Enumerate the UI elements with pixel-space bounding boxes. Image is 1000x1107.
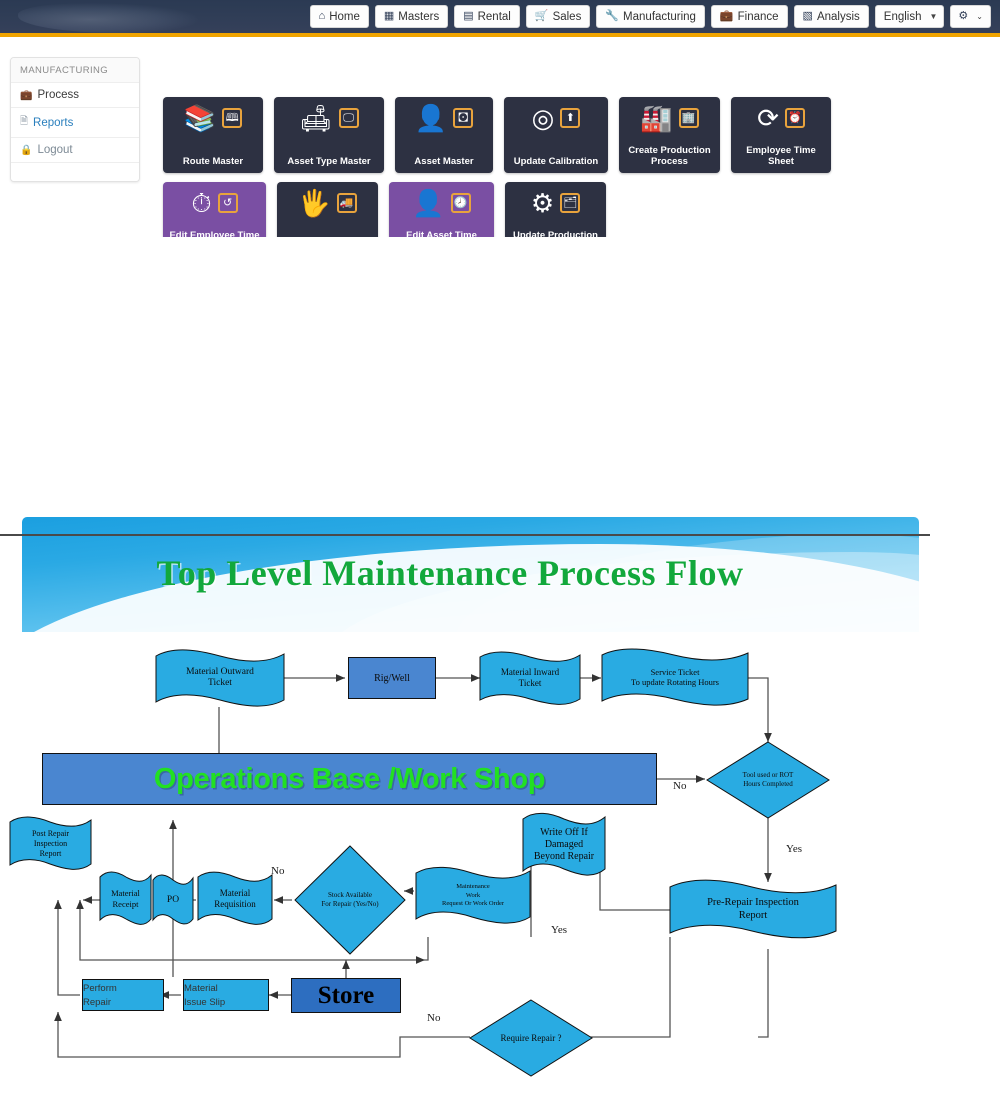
24h-clock-icon: ⏱ <box>191 190 211 216</box>
clock-reset-badge-icon: ↺ <box>218 193 238 213</box>
home-icon: ⌂ <box>319 11 326 22</box>
tile-update-calibration[interactable]: ◎ ⬆ Update Calibration <box>504 97 608 173</box>
id-card-badge-icon: 🖸 <box>453 108 473 128</box>
top-navigation-bar: ⌂ Home ▦ Masters ▤ Rental 🛒 Sales 🔧 Manu… <box>0 0 1000 37</box>
nav-item-masters[interactable]: ▦ Masters <box>375 5 448 28</box>
sidebar-item-reports[interactable]: 🗎 Reports <box>11 108 139 138</box>
books-icon: 📚 <box>184 105 216 131</box>
person-clock-icon: 👤 <box>412 190 444 216</box>
cart-icon: 🛒 <box>535 11 549 22</box>
factory-badge-icon: 🏢 <box>679 108 699 128</box>
tile-asset-master[interactable]: 👤 🖸 Asset Master <box>395 97 493 173</box>
workflow-icon: ⚙ <box>531 190 554 216</box>
clock-badge-icon: 🕗 <box>451 193 471 213</box>
tile-label: Route Master <box>163 156 263 167</box>
language-selector-label: English <box>884 11 922 23</box>
tile-icons: 🏭 🏢 <box>619 105 720 131</box>
tile-route-master[interactable]: 📚 🕮 Route Master <box>163 97 263 173</box>
node-pre-repair-inspection-report[interactable]: Pre-Repair Inspection Report <box>668 878 838 940</box>
tile-label: Asset Master <box>395 156 493 167</box>
flowchart-title: Top Level Maintenance Process Flow <box>0 552 900 594</box>
upload-badge-icon: ⬆ <box>560 108 580 128</box>
sidebar-item-reports-label: Reports <box>33 117 73 129</box>
sidebar-footer-spacer <box>11 163 139 181</box>
node-stock-available-decision[interactable]: Stock Available For Repair (Yes/No) <box>294 845 406 955</box>
hand-clock-icon: 🖐 <box>298 190 330 216</box>
chevron-down-icon: ▼ <box>930 12 938 21</box>
wrench-icon: 🔧 <box>605 11 619 22</box>
armchair-icon: 🛋 <box>299 105 332 131</box>
sidebar-item-logout[interactable]: 🔒 Logout <box>11 138 139 163</box>
grid-list-icon: ▦ <box>384 11 394 22</box>
tile-create-production-process[interactable]: 🏭 🏢 Create Production Process <box>619 97 720 173</box>
grid-icon: ▧ <box>803 11 813 22</box>
nav-button-group: ⌂ Home ▦ Masters ▤ Rental 🛒 Sales 🔧 Manu… <box>310 5 991 28</box>
node-material-requisition[interactable]: Material Requisition <box>196 870 274 928</box>
nav-item-finance-label: Finance <box>738 11 779 23</box>
content-area: MANUFACTURING 💼 Process 🗎 Reports 🔒 Logo… <box>0 37 1000 237</box>
lock-icon: 🔒 <box>20 145 32 156</box>
nav-item-manufacturing-label: Manufacturing <box>623 11 696 23</box>
settings-menu-button[interactable]: ⚙ ⌄ <box>950 5 991 28</box>
tile-icons: 👤 🕗 <box>389 190 494 216</box>
sidebar-item-process-label: Process <box>37 89 79 101</box>
nav-item-home[interactable]: ⌂ Home <box>310 5 369 28</box>
monitor-badge-icon: 🖵 <box>339 108 359 128</box>
table-icon: ▤ <box>463 11 473 22</box>
settings-caret-icon: ⌄ <box>976 12 983 21</box>
node-material-issue-slip[interactable]: Material Issue Slip <box>183 979 269 1011</box>
alarm-badge-icon: ⏰ <box>785 108 805 128</box>
edge-label-tool-used-yes: Yes <box>786 843 802 855</box>
node-write-off[interactable]: Write Off If Damaged Beyond Repair <box>521 811 607 879</box>
manufacturing-sidebar: MANUFACTURING 💼 Process 🗎 Reports 🔒 Logo… <box>10 57 140 182</box>
nav-item-sales-label: Sales <box>553 11 582 23</box>
node-label: Store <box>318 982 374 1010</box>
tile-row-1: 📚 🕮 Route Master 🛋 🖵 Asset Type Master 👤… <box>163 97 963 173</box>
24h-cycle-icon: ⟳ <box>757 105 779 131</box>
node-require-repair-decision[interactable]: Require Repair ? <box>469 999 593 1077</box>
tile-label: Asset Type Master <box>274 156 384 167</box>
gear-icon: ⚙ <box>958 11 968 22</box>
book-badge-icon: 🕮 <box>222 108 242 128</box>
tile-icons: 📚 🕮 <box>163 105 263 131</box>
node-tool-used-decision[interactable]: Tool used or ROT Hours Completed <box>706 741 830 819</box>
edge-label-write-off-yes: Yes <box>551 924 567 936</box>
tile-label: Update Calibration <box>504 156 608 167</box>
document-icon: 🗎 <box>20 114 28 131</box>
tile-label: Create Production Process <box>619 145 720 167</box>
person-suit-icon: 👤 <box>415 105 447 131</box>
node-material-inward-ticket[interactable]: Material Inward Ticket <box>478 650 582 706</box>
tile-icons: ◎ ⬆ <box>504 105 608 131</box>
truck-badge-icon: 🚚 <box>337 193 357 213</box>
nav-item-rental-label: Rental <box>478 11 511 23</box>
node-maintenance-work-request[interactable]: Maintenance Work Request Or Work Order <box>414 865 532 927</box>
node-rig-well[interactable]: Rig/Well <box>348 657 436 699</box>
node-perform-repair[interactable]: Perform Repair <box>82 979 164 1011</box>
node-post-repair-inspection-report[interactable]: Post Repair Inspection Report <box>8 815 93 873</box>
sidebar-item-logout-label: Logout <box>37 144 72 156</box>
sidebar-item-process[interactable]: 💼 Process <box>11 83 139 108</box>
tile-icons: 👤 🖸 <box>395 105 493 131</box>
node-store[interactable]: Store <box>291 978 401 1013</box>
tile-asset-type-master[interactable]: 🛋 🖵 Asset Type Master <box>274 97 384 173</box>
node-material-outward-ticket[interactable]: Material Outward Ticket <box>154 648 286 708</box>
node-label: Perform Repair <box>83 983 117 1008</box>
company-logo <box>18 3 198 33</box>
node-label: Rig/Well <box>374 673 410 684</box>
nav-item-analysis[interactable]: ▧ Analysis <box>794 5 869 28</box>
edge-label-tool-used-no: No <box>673 780 686 792</box>
briefcase-icon: 💼 <box>720 11 734 22</box>
language-selector[interactable]: English ▼ <box>875 5 945 28</box>
briefcase-icon: 💼 <box>20 90 32 101</box>
tile-icons: ⟳ ⏰ <box>731 105 831 131</box>
tile-icons: ⚙ 🗂 <box>505 190 606 216</box>
node-operations-base-workshop[interactable]: Operations Base /Work Shop <box>42 753 657 805</box>
tile-label: Employee Time Sheet <box>731 145 831 167</box>
sidebar-title: MANUFACTURING <box>11 58 139 83</box>
node-material-receipt[interactable]: Material Receipt <box>98 870 153 928</box>
factory-icon: 🏭 <box>640 105 672 131</box>
nav-item-manufacturing[interactable]: 🔧 Manufacturing <box>596 5 705 28</box>
nav-item-finance[interactable]: 💼 Finance <box>711 5 788 28</box>
process-flow-diagram: Top Level Maintenance Process Flow <box>0 237 1000 867</box>
node-label: Operations Base /Work Shop <box>154 763 545 796</box>
tile-employee-time-sheet[interactable]: ⟳ ⏰ Employee Time Sheet <box>731 97 831 173</box>
tile-icons: ⏱ ↺ <box>163 190 266 216</box>
node-service-ticket[interactable]: Service Ticket To update Rotating Hours <box>600 647 750 707</box>
nav-item-rental[interactable]: ▤ Rental <box>454 5 520 28</box>
nav-item-home-label: Home <box>329 11 360 23</box>
node-po[interactable]: PO <box>151 873 195 927</box>
panel-badge-icon: 🗂 <box>560 193 580 213</box>
tile-icons: 🛋 🖵 <box>274 105 384 131</box>
nav-item-masters-label: Masters <box>398 11 439 23</box>
node-label: Material Issue Slip <box>184 983 225 1008</box>
nav-item-sales[interactable]: 🛒 Sales <box>526 5 590 28</box>
tile-icons: 🖐 🚚 <box>277 190 378 216</box>
nav-item-analysis-label: Analysis <box>817 11 860 23</box>
gauge-icon: ◎ <box>532 105 555 131</box>
edge-label-stock-no: No <box>271 865 284 877</box>
edge-label-require-repair-no: No <box>427 1012 440 1024</box>
